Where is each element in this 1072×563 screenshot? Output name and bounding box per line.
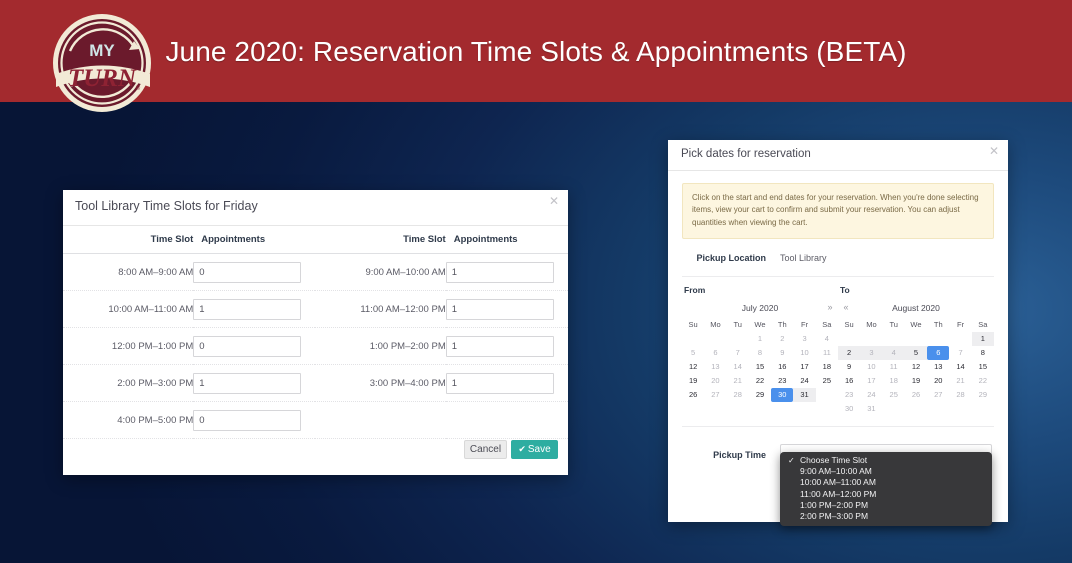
calendar-day-cell[interactable]: 1 <box>972 332 994 346</box>
calendar-blank-cell <box>838 332 860 346</box>
calendar-dow-header: Sa <box>972 318 994 332</box>
time-slot-label-left: 12:00 PM–1:00 PM <box>63 328 193 365</box>
calendar-blank-cell <box>704 332 726 346</box>
time-slots-table-body: 8:00 AM–9:00 AM9:00 AM–10:00 AM10:00 AM–… <box>63 254 568 439</box>
calendar-day-cell[interactable]: 9 <box>838 360 860 374</box>
date-range-calendars: From July 2020 » SuMoTuWeThFrSa123456789… <box>682 277 994 427</box>
calendar-day-cell[interactable]: 18 <box>883 374 905 388</box>
dropdown-option-label: 11:00 AM–12:00 PM <box>800 489 876 499</box>
appointments-input[interactable] <box>193 299 301 320</box>
calendar-dow-header: We <box>749 318 771 332</box>
dropdown-option-label: 2:00 PM–3:00 PM <box>800 511 868 521</box>
calendar-dow-header: Sa <box>816 318 838 332</box>
calendar-blank-cell <box>949 332 971 346</box>
calendar-blank-cell <box>905 332 927 346</box>
table-row: 8:00 AM–9:00 AM9:00 AM–10:00 AM <box>63 254 568 291</box>
calendar-day-cell[interactable]: 25 <box>816 374 838 388</box>
appointments-input[interactable] <box>193 262 301 283</box>
dropdown-option[interactable]: 11:00 AM–12:00 PM <box>780 489 992 500</box>
calendar-day-cell[interactable]: 21 <box>949 374 971 388</box>
time-slots-table: Time Slot Appointments Time Slot Appoint… <box>63 226 568 439</box>
appointments-cell-left <box>193 328 315 365</box>
calendar-dow-header: Th <box>927 318 949 332</box>
calendar-day-cell[interactable]: 7 <box>727 346 749 360</box>
calendar-dow-header: We <box>905 318 927 332</box>
calendar-day-cell[interactable]: 29 <box>972 388 994 402</box>
calendar-day-cell[interactable]: 22 <box>972 374 994 388</box>
calendar-to-month-label: August 2020 <box>854 303 978 313</box>
calendar-dow-header: Fr <box>949 318 971 332</box>
pick-dates-dialog-title: Pick dates for reservation <box>681 148 811 160</box>
calendar-day-cell[interactable]: 6 <box>927 346 949 360</box>
appointments-cell-left <box>193 291 315 328</box>
logo-my-text: MY <box>89 41 115 60</box>
calendar-from: From July 2020 » SuMoTuWeThFrSa123456789… <box>682 285 838 416</box>
column-header-appointments-left: Appointments <box>193 226 315 254</box>
calendar-next-icon[interactable]: » <box>822 303 838 312</box>
calendar-day-cell[interactable]: 14 <box>949 360 971 374</box>
calendar-day-cell[interactable]: 4 <box>816 332 838 346</box>
close-icon[interactable]: ✕ <box>989 145 999 157</box>
appointments-cell-left <box>193 365 315 402</box>
calendar-day-cell[interactable]: 30 <box>838 402 860 416</box>
close-icon[interactable]: ✕ <box>549 195 559 207</box>
calendar-dow-header: Fr <box>793 318 815 332</box>
calendar-dow-header: Tu <box>883 318 905 332</box>
calendar-day-cell[interactable]: 24 <box>860 388 882 402</box>
calendar-day-cell[interactable]: 26 <box>905 388 927 402</box>
time-slots-dialog-footer: Cancel ✔Save <box>63 431 568 475</box>
calendar-day-cell[interactable]: 7 <box>949 346 971 360</box>
time-slot-label-right: 9:00 AM–10:00 AM <box>315 254 445 291</box>
time-slots-dialog: Tool Library Time Slots for Friday ✕ Tim… <box>63 190 568 475</box>
appointments-cell-right <box>446 365 568 402</box>
table-row: 12:00 PM–1:00 PM1:00 PM–2:00 PM <box>63 328 568 365</box>
time-slot-label-right: 11:00 AM–12:00 PM <box>315 291 445 328</box>
pickup-time-dropdown-menu[interactable]: ✓Choose Time Slot9:00 AM–10:00 AM10:00 A… <box>780 452 992 526</box>
calendar-to-grid: SuMoTuWeThFrSa12345678910111213141516171… <box>838 318 994 416</box>
calendar-to: To « August 2020 SuMoTuWeThFrSa123456789… <box>838 285 994 416</box>
check-icon: ✓ <box>788 455 795 466</box>
save-button[interactable]: ✔Save <box>511 440 558 459</box>
dropdown-option[interactable]: 2:00 PM–3:00 PM <box>780 511 992 522</box>
appointments-cell-right <box>446 291 568 328</box>
time-slot-label-left: 8:00 AM–9:00 AM <box>63 254 193 291</box>
dropdown-option-label: 10:00 AM–11:00 AM <box>800 477 876 487</box>
page-title: June 2020: Reservation Time Slots & Appo… <box>0 36 1072 68</box>
page-header-banner: MY TURN ® June 2020: Reservation Time Sl… <box>0 0 1072 102</box>
myturn-logo: MY TURN ® <box>50 11 154 115</box>
time-slots-dialog-title: Tool Library Time Slots for Friday <box>75 199 258 213</box>
pick-dates-dialog: Pick dates for reservation ✕ Click on th… <box>668 140 1008 522</box>
time-slots-dialog-header: Tool Library Time Slots for Friday ✕ <box>63 190 568 226</box>
calendar-blank-cell <box>927 332 949 346</box>
calendar-dow-header: Su <box>682 318 704 332</box>
myturn-logo-svg: MY TURN ® <box>50 11 154 115</box>
appointments-input[interactable] <box>446 336 554 357</box>
dropdown-option-label: 9:00 AM–10:00 AM <box>800 466 872 476</box>
calendar-day-cell[interactable]: 18 <box>816 360 838 374</box>
calendar-day-cell[interactable]: 17 <box>793 360 815 374</box>
pick-dates-dialog-header: Pick dates for reservation ✕ <box>668 140 1008 171</box>
calendar-day-cell[interactable]: 20 <box>927 374 949 388</box>
calendar-prev-icon[interactable]: « <box>838 303 854 312</box>
calendar-day-cell[interactable]: 22 <box>749 374 771 388</box>
calendar-day-cell[interactable]: 21 <box>727 374 749 388</box>
appointments-input[interactable] <box>446 262 554 283</box>
calendar-day-cell[interactable]: 27 <box>704 388 726 402</box>
pickup-location-value: Tool Library <box>780 253 827 263</box>
calendar-from-grid: SuMoTuWeThFrSa12345678910111213141516171… <box>682 318 838 402</box>
app-screen: MY TURN ® June 2020: Reservation Time Sl… <box>0 0 1072 563</box>
calendar-blank-cell <box>883 332 905 346</box>
calendar-dow-header: Mo <box>860 318 882 332</box>
calendar-day-cell[interactable]: 5 <box>682 346 704 360</box>
calendar-day-cell[interactable]: 16 <box>838 374 860 388</box>
calendar-dow-header: Th <box>771 318 793 332</box>
calendar-day-cell[interactable]: 1 <box>749 332 771 346</box>
time-slots-table-header-row: Time Slot Appointments Time Slot Appoint… <box>63 226 568 254</box>
appointments-cell-left <box>193 254 315 291</box>
calendar-day-cell[interactable]: 10 <box>860 360 882 374</box>
calendar-day-cell[interactable]: 10 <box>793 346 815 360</box>
appointments-input[interactable] <box>193 410 301 431</box>
calendar-day-cell[interactable]: 15 <box>749 360 771 374</box>
table-row: 2:00 PM–3:00 PM3:00 PM–4:00 PM <box>63 365 568 402</box>
time-slot-label-left: 2:00 PM–3:00 PM <box>63 365 193 402</box>
column-header-appointments-right: Appointments <box>446 226 568 254</box>
calendar-day-cell[interactable]: 2 <box>838 346 860 360</box>
calendar-day-cell[interactable]: 11 <box>816 346 838 360</box>
calendar-day-cell[interactable]: 13 <box>704 360 726 374</box>
calendar-day-cell[interactable]: 13 <box>927 360 949 374</box>
calendar-day-cell[interactable]: 20 <box>704 374 726 388</box>
column-header-time-slot-left: Time Slot <box>63 226 193 254</box>
dropdown-option-label: Choose Time Slot <box>800 455 867 465</box>
calendar-blank-cell <box>682 332 704 346</box>
calendar-day-cell[interactable]: 6 <box>704 346 726 360</box>
calendar-day-cell[interactable]: 28 <box>949 388 971 402</box>
time-slot-label-right: 1:00 PM–2:00 PM <box>315 328 445 365</box>
calendar-day-cell[interactable]: 8 <box>749 346 771 360</box>
calendar-day-cell[interactable]: 30 <box>771 388 793 402</box>
calendar-day-cell[interactable]: 23 <box>838 388 860 402</box>
dropdown-option[interactable]: 10:00 AM–11:00 AM <box>780 477 992 488</box>
calendar-day-cell[interactable]: 27 <box>927 388 949 402</box>
calendar-blank-cell <box>727 332 749 346</box>
appointments-cell-right <box>446 328 568 365</box>
calendar-day-cell[interactable]: 12 <box>905 360 927 374</box>
calendar-dow-header: Su <box>838 318 860 332</box>
calendar-day-cell[interactable]: 31 <box>793 388 815 402</box>
calendar-day-cell[interactable]: 26 <box>682 388 704 402</box>
cancel-button[interactable]: Cancel <box>464 440 507 459</box>
calendar-day-cell[interactable]: 9 <box>771 346 793 360</box>
dropdown-option[interactable]: 9:00 AM–10:00 AM <box>780 466 992 477</box>
calendar-day-cell[interactable]: 23 <box>771 374 793 388</box>
pickup-time-label: Pickup Time <box>682 450 780 460</box>
calendar-day-cell[interactable]: 29 <box>749 388 771 402</box>
appointments-input[interactable] <box>193 373 301 394</box>
calendar-day-cell[interactable]: 31 <box>860 402 882 416</box>
calendar-day-cell[interactable]: 19 <box>682 374 704 388</box>
calendar-dow-header: Mo <box>704 318 726 332</box>
calendar-day-cell[interactable]: 25 <box>883 388 905 402</box>
calendar-day-cell[interactable]: 3 <box>860 346 882 360</box>
calendar-day-cell[interactable]: 24 <box>793 374 815 388</box>
calendar-day-cell[interactable]: 4 <box>883 346 905 360</box>
dropdown-option[interactable]: ✓Choose Time Slot <box>780 455 992 466</box>
calendar-day-cell[interactable]: 11 <box>883 360 905 374</box>
calendar-day-cell[interactable]: 5 <box>905 346 927 360</box>
calendar-from-nav: July 2020 » <box>682 300 838 315</box>
save-button-label: Save <box>528 444 551 455</box>
table-row: 10:00 AM–11:00 AM11:00 AM–12:00 PM <box>63 291 568 328</box>
pickup-location-label: Pickup Location <box>682 253 780 263</box>
dropdown-option-label: 1:00 PM–2:00 PM <box>800 500 868 510</box>
pickup-location-row: Pickup Location Tool Library <box>682 239 994 277</box>
calendar-day-cell[interactable]: 19 <box>905 374 927 388</box>
calendar-day-cell[interactable]: 8 <box>972 346 994 360</box>
appointments-input[interactable] <box>446 373 554 394</box>
calendar-day-cell[interactable]: 28 <box>727 388 749 402</box>
calendar-from-month-label: July 2020 <box>698 303 822 313</box>
time-slot-label-right: 3:00 PM–4:00 PM <box>315 365 445 402</box>
appointments-cell-right <box>446 254 568 291</box>
calendar-day-cell[interactable]: 14 <box>727 360 749 374</box>
logo-turn-text: TURN <box>68 65 137 92</box>
calendar-dow-header: Tu <box>727 318 749 332</box>
calendar-day-cell[interactable]: 12 <box>682 360 704 374</box>
calendar-to-kicker: To <box>838 285 994 295</box>
logo-registered-mark: ® <box>136 85 141 92</box>
dropdown-option[interactable]: 1:00 PM–2:00 PM <box>780 500 992 511</box>
column-header-time-slot-right: Time Slot <box>315 226 445 254</box>
calendar-day-cell[interactable]: 17 <box>860 374 882 388</box>
calendar-from-kicker: From <box>682 285 838 295</box>
calendar-blank-cell <box>860 332 882 346</box>
appointments-input[interactable] <box>193 336 301 357</box>
reservation-info-banner: Click on the start and end dates for you… <box>682 183 994 239</box>
check-icon: ✔ <box>518 444 526 454</box>
calendar-to-nav: « August 2020 <box>838 300 994 315</box>
time-slot-label-left: 10:00 AM–11:00 AM <box>63 291 193 328</box>
calendar-day-cell[interactable]: 2 <box>771 332 793 346</box>
appointments-input[interactable] <box>446 299 554 320</box>
calendar-day-cell[interactable]: 16 <box>771 360 793 374</box>
calendar-day-cell[interactable]: 15 <box>972 360 994 374</box>
calendar-day-cell[interactable]: 3 <box>793 332 815 346</box>
